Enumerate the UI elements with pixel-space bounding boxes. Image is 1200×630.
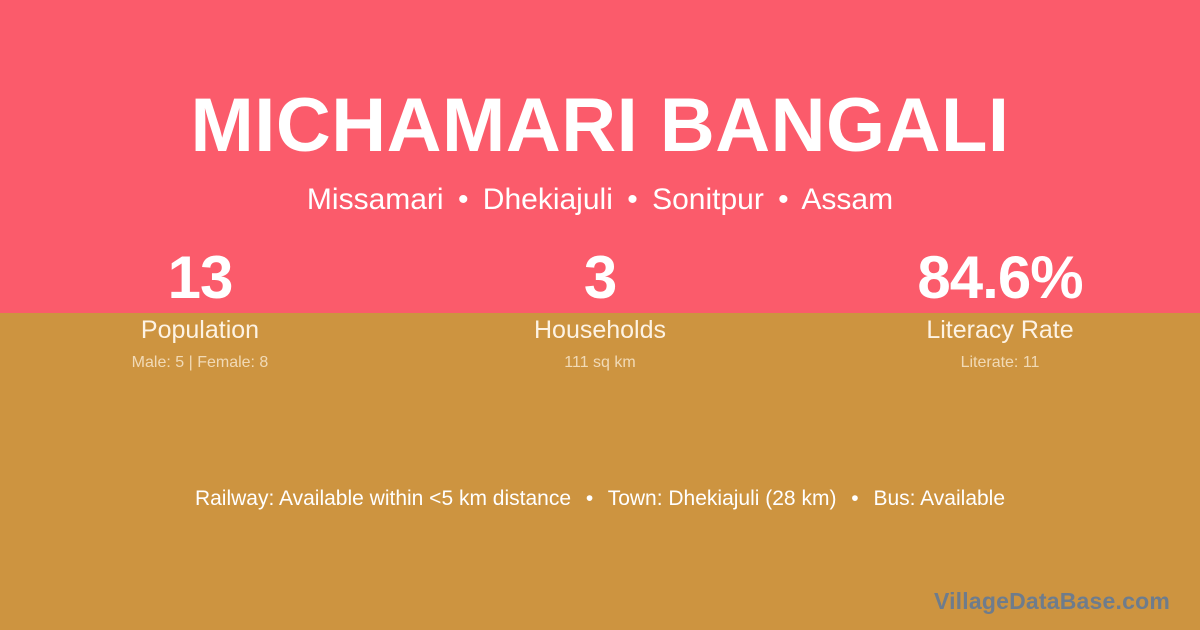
- stat-label: Households: [400, 314, 800, 346]
- page-title: MICHAMARI BANGALI: [0, 82, 1200, 170]
- stat-sublabel: Male: 5 | Female: 8: [0, 352, 400, 374]
- site-brand-watermark: VillageDataBase.com: [934, 586, 1170, 616]
- breadcrumb-item-district: Sonitpur: [652, 183, 764, 216]
- breadcrumb: Missamari • Dhekiajuli • Sonitpur • Assa…: [0, 182, 1200, 218]
- breadcrumb-separator: •: [772, 182, 795, 218]
- breadcrumb-item-state: Assam: [801, 183, 893, 216]
- stat-value: 84.6%: [800, 243, 1200, 313]
- stat-label: Literacy Rate: [800, 314, 1200, 346]
- stat-value: 13: [0, 243, 400, 313]
- stat-sublabel: Literate: 11: [800, 352, 1200, 374]
- stat-households: 3 Households 111 sq km: [400, 243, 800, 374]
- stat-label: Population: [0, 314, 400, 346]
- breadcrumb-item-village: Missamari: [307, 183, 444, 216]
- info-item-railway: Railway: Available within <5 km distance: [195, 487, 571, 510]
- stat-sublabel: 111 sq km: [400, 352, 800, 374]
- stat-value: 3: [400, 243, 800, 313]
- stat-literacy-rate: 84.6% Literacy Rate Literate: 11: [800, 243, 1200, 374]
- village-info-card: MICHAMARI BANGALI Missamari • Dhekiajuli…: [0, 0, 1200, 630]
- breadcrumb-separator: •: [452, 182, 475, 218]
- info-separator: •: [577, 484, 602, 514]
- breadcrumb-item-block: Dhekiajuli: [483, 183, 613, 216]
- info-separator: •: [842, 484, 867, 514]
- info-item-town: Town: Dhekiajuli (28 km): [608, 487, 837, 510]
- breadcrumb-separator: •: [621, 182, 644, 218]
- info-item-bus: Bus: Available: [873, 487, 1005, 510]
- stats-row: 13 Population Male: 5 | Female: 8 3 Hous…: [0, 243, 1200, 374]
- amenities-info-line: Railway: Available within <5 km distance…: [0, 484, 1200, 514]
- stat-population: 13 Population Male: 5 | Female: 8: [0, 243, 400, 374]
